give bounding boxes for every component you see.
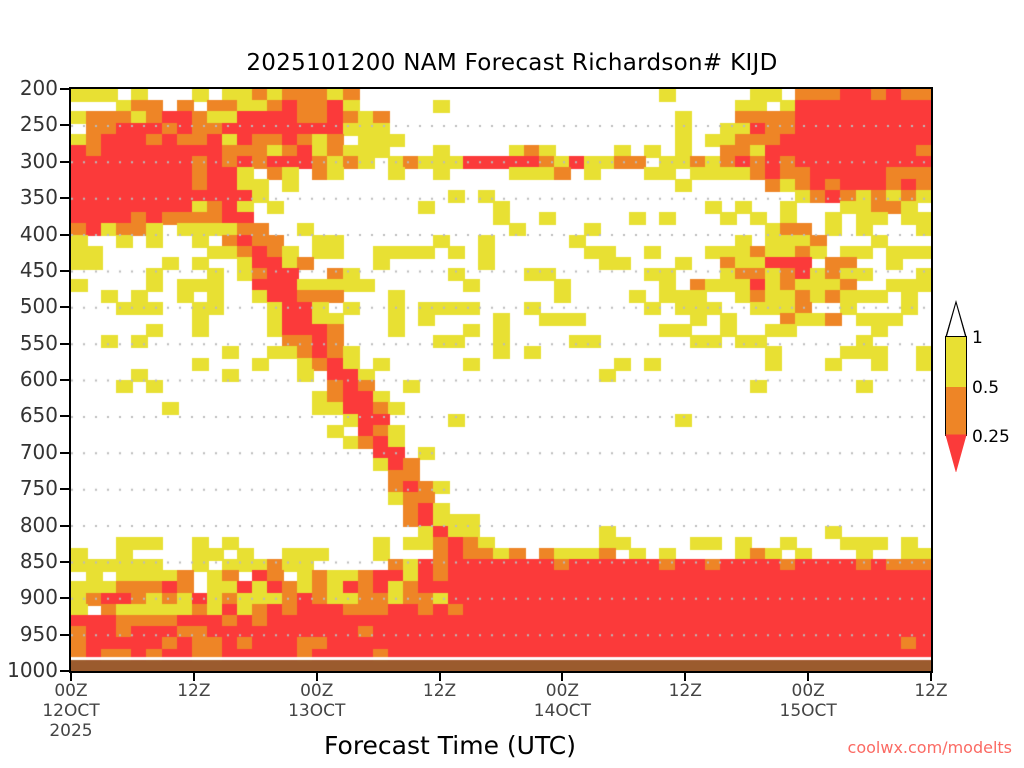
x-tick-label: 00Z12OCT2025 [11, 681, 131, 741]
x-tick-mark [561, 672, 563, 681]
heatmap-canvas [71, 89, 931, 671]
y-tick-label: 700 [20, 442, 58, 462]
x-tick-label-line: 00Z [11, 681, 131, 701]
y-tick-mark [60, 488, 69, 490]
x-tick-label-line: 14OCT [502, 701, 622, 721]
y-tick-mark [60, 270, 69, 272]
y-tick-mark [60, 452, 69, 454]
y-tick-label: 750 [20, 478, 58, 498]
y-tick-label: 800 [20, 515, 58, 535]
x-tick-label-line: 00Z [748, 681, 868, 701]
y-tick-label: 850 [20, 551, 58, 571]
x-tick-label-line: 2025 [11, 721, 131, 741]
colorbar-band [946, 337, 966, 387]
x-tick-mark [439, 672, 441, 681]
colorbar-body [945, 336, 967, 436]
y-tick-label: 1000 [7, 660, 58, 680]
x-tick-label-line: 13OCT [257, 701, 377, 721]
y-tick-label: 500 [20, 296, 58, 316]
y-tick-label: 950 [20, 624, 58, 644]
x-tick-label: 00Z13OCT [257, 681, 377, 721]
y-tick-label: 200 [20, 78, 58, 98]
x-tick-label-line: 12Z [380, 681, 500, 701]
y-axis: 2002503003504004505005506006507007508008… [0, 0, 58, 768]
colorbar-band [946, 387, 966, 437]
y-tick-label: 550 [20, 333, 58, 353]
colorbar-label-025: 0.25 [972, 429, 1010, 446]
y-tick-label: 450 [20, 260, 58, 280]
y-tick-mark [60, 124, 69, 126]
y-tick-label: 300 [20, 151, 58, 171]
colorbar-under-arrow-icon [945, 434, 967, 472]
y-tick-label: 900 [20, 587, 58, 607]
colorbar-label-1: 1 [972, 330, 983, 347]
chart-title: 2025101200 NAM Forecast Richardson# KIJD [0, 50, 1024, 76]
x-tick-label-line: 15OCT [748, 701, 868, 721]
y-tick-label: 250 [20, 114, 58, 134]
watermark-link[interactable]: coolwx.com/modelts [848, 738, 1012, 757]
y-tick-mark [60, 343, 69, 345]
y-tick-mark [60, 670, 69, 672]
y-tick-mark [60, 415, 69, 417]
plot-area [69, 87, 933, 673]
x-tick-label: 12Z [871, 681, 991, 701]
x-tick-label: 00Z15OCT [748, 681, 868, 721]
x-tick-label: 00Z14OCT [502, 681, 622, 721]
x-tick-label-line: 00Z [502, 681, 622, 701]
colorbar-legend: 1 0.5 0.25 [944, 300, 968, 472]
y-tick-mark [60, 88, 69, 90]
x-tick-mark [930, 672, 932, 681]
x-tick-mark [684, 672, 686, 681]
x-tick-label-line: 00Z [257, 681, 377, 701]
y-tick-mark [60, 379, 69, 381]
y-tick-mark [60, 234, 69, 236]
y-tick-label: 600 [20, 369, 58, 389]
colorbar-label-05: 0.5 [972, 380, 999, 397]
x-tick-label: 12Z [380, 681, 500, 701]
x-tick-label-line: 12Z [625, 681, 745, 701]
y-tick-label: 350 [20, 187, 58, 207]
y-tick-mark [60, 634, 69, 636]
y-tick-mark [60, 161, 69, 163]
y-tick-mark [60, 597, 69, 599]
x-tick-mark [70, 672, 72, 681]
y-tick-mark [60, 197, 69, 199]
x-axis-title: Forecast Time (UTC) [150, 731, 750, 760]
chart-container: 2025101200 NAM Forecast Richardson# KIJD… [0, 0, 1024, 768]
x-tick-mark [193, 672, 195, 681]
y-tick-label: 400 [20, 224, 58, 244]
x-tick-label: 12Z [134, 681, 254, 701]
x-tick-label: 12Z [625, 681, 745, 701]
y-tick-label: 650 [20, 405, 58, 425]
y-tick-mark [60, 525, 69, 527]
x-tick-mark [316, 672, 318, 681]
x-tick-label-line: 12Z [134, 681, 254, 701]
x-tick-label-line: 12Z [871, 681, 991, 701]
y-tick-mark [60, 306, 69, 308]
x-tick-mark [807, 672, 809, 681]
y-tick-mark [60, 561, 69, 563]
x-tick-label-line: 12OCT [11, 701, 131, 721]
colorbar-over-arrow-icon [945, 300, 967, 338]
